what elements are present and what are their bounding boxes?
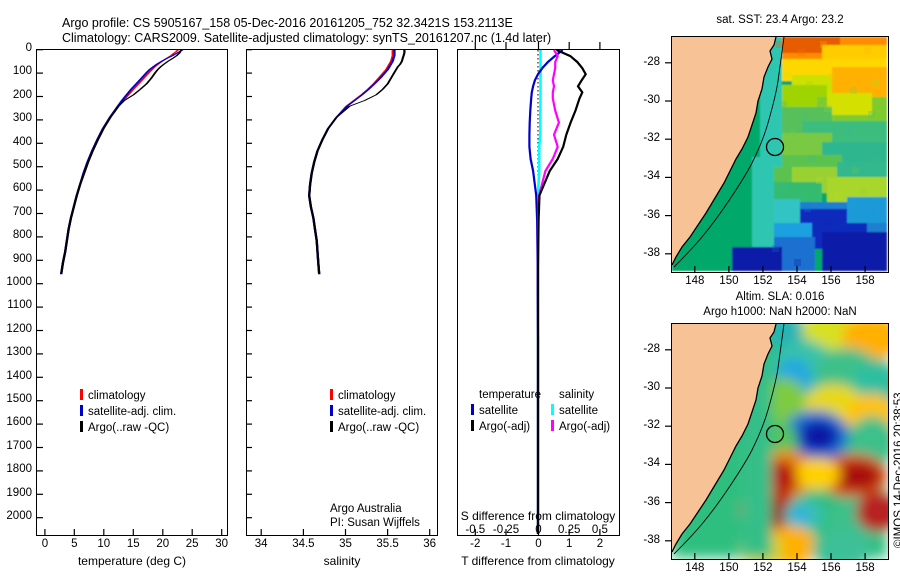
- salinity-argo-curve: [309, 50, 404, 274]
- salinity-climatology-curve: [309, 50, 393, 274]
- sst-map-yticks: [663, 36, 672, 273]
- legend-header-salinity: salinity: [559, 389, 610, 401]
- salinity-xticks: [246, 529, 438, 537]
- legend-item-satellite-adj: satellite-adj. clim.: [80, 405, 176, 418]
- imos-credit: ©IMOS 14-Dec-2016 20:38:53: [893, 548, 900, 560]
- sst-map: [671, 36, 889, 273]
- salinity-axis-label: salinity: [324, 554, 361, 568]
- temperature-argo-diff-curve: [538, 50, 586, 534]
- sla-map: [671, 323, 889, 560]
- legend-header-temperature: temperature: [479, 389, 541, 401]
- legend-item-salinity-satellite: satellite: [551, 404, 610, 417]
- legend-item-temperature-satellite: satellite: [471, 404, 541, 417]
- legend-swatch-climatology: [80, 389, 83, 400]
- legend-item-climatology-salinity: climatology: [330, 389, 426, 402]
- legend-swatch-climatology-salinity: [330, 389, 333, 400]
- legend-item-argo-salinity: Argo(..raw -QC): [330, 421, 426, 434]
- temperature-legend: climatology satellite-adj. clim. Argo(..…: [80, 389, 176, 434]
- legend-swatch-temperature-argo: [471, 420, 474, 431]
- salinity-depth-ticks: [246, 49, 254, 536]
- salinity-satellite-adj-curve: [309, 50, 394, 274]
- sla-map-title-line1: Altim. SLA: 0.016: [736, 291, 825, 303]
- agency-pi: PI: Susan Wijffels: [330, 517, 420, 529]
- sla-map-xticks: [671, 553, 889, 561]
- temperature-satellite-adj-curve: [61, 50, 182, 274]
- difference-legend-temperature: temperature satellite Argo(-adj): [471, 389, 541, 433]
- difference-plot-area: [458, 50, 618, 534]
- difference-top-xticks: [457, 42, 620, 50]
- temperature-axis-label: temperature (deg C): [78, 554, 186, 568]
- temperature-climatology-curve: [61, 50, 178, 274]
- legend-swatch-salinity-argo: [551, 420, 554, 431]
- difference-panel: [457, 49, 620, 536]
- temperature-plot-area: [37, 50, 226, 534]
- temperature-xticks: [36, 529, 228, 537]
- legend-swatch-salinity-satellite: [551, 404, 554, 415]
- legend-item-climatology: climatology: [80, 389, 176, 402]
- sla-map-title-line2: Argo h1000: NaN h2000: NaN: [703, 306, 856, 318]
- legend-item-argo: Argo(..raw -QC): [80, 421, 176, 434]
- legend-item-satellite-adj-salinity: satellite-adj. clim.: [330, 405, 426, 418]
- agency-annotation: Argo Australia PI: Susan Wijffels: [330, 503, 420, 529]
- temperature-depth-ticks: [36, 49, 46, 536]
- figure-title-line1: Argo profile: CS 5905167_158 05-Dec-2016…: [62, 16, 513, 30]
- legend-item-salinity-argo: Argo(-adj): [551, 420, 610, 433]
- salinity-plot-area: [247, 50, 436, 534]
- difference-legend-salinity: salinity satellite Argo(-adj): [551, 389, 610, 433]
- sla-map-field: [672, 324, 887, 558]
- temperature-satellite-diff-curve: [529, 50, 562, 534]
- temperature-argo-curve: [61, 50, 181, 274]
- sst-map-xticks: [671, 266, 889, 274]
- difference-temperature-axis-label: T difference from climatology: [461, 554, 615, 568]
- sst-map-title: sat. SST: 23.4 Argo: 23.2: [716, 14, 843, 26]
- legend-swatch-satellite-adj: [80, 405, 83, 416]
- temperature-panel: [36, 49, 228, 536]
- legend-swatch-argo-salinity: [330, 421, 333, 432]
- difference-salinity-axis-label: S difference from climatology: [461, 509, 616, 523]
- legend-swatch-satellite-adj-salinity: [330, 405, 333, 416]
- sla-map-yticks: [663, 323, 672, 560]
- legend-swatch-temperature-satellite: [471, 404, 474, 415]
- legend-swatch-argo: [80, 421, 83, 432]
- salinity-panel: [246, 49, 438, 536]
- sst-map-field: [672, 37, 887, 271]
- salinity-legend: climatology satellite-adj. clim. Argo(..…: [330, 389, 426, 434]
- agency-name: Argo Australia: [330, 503, 420, 515]
- legend-item-temperature-argo: Argo(-adj): [471, 420, 541, 433]
